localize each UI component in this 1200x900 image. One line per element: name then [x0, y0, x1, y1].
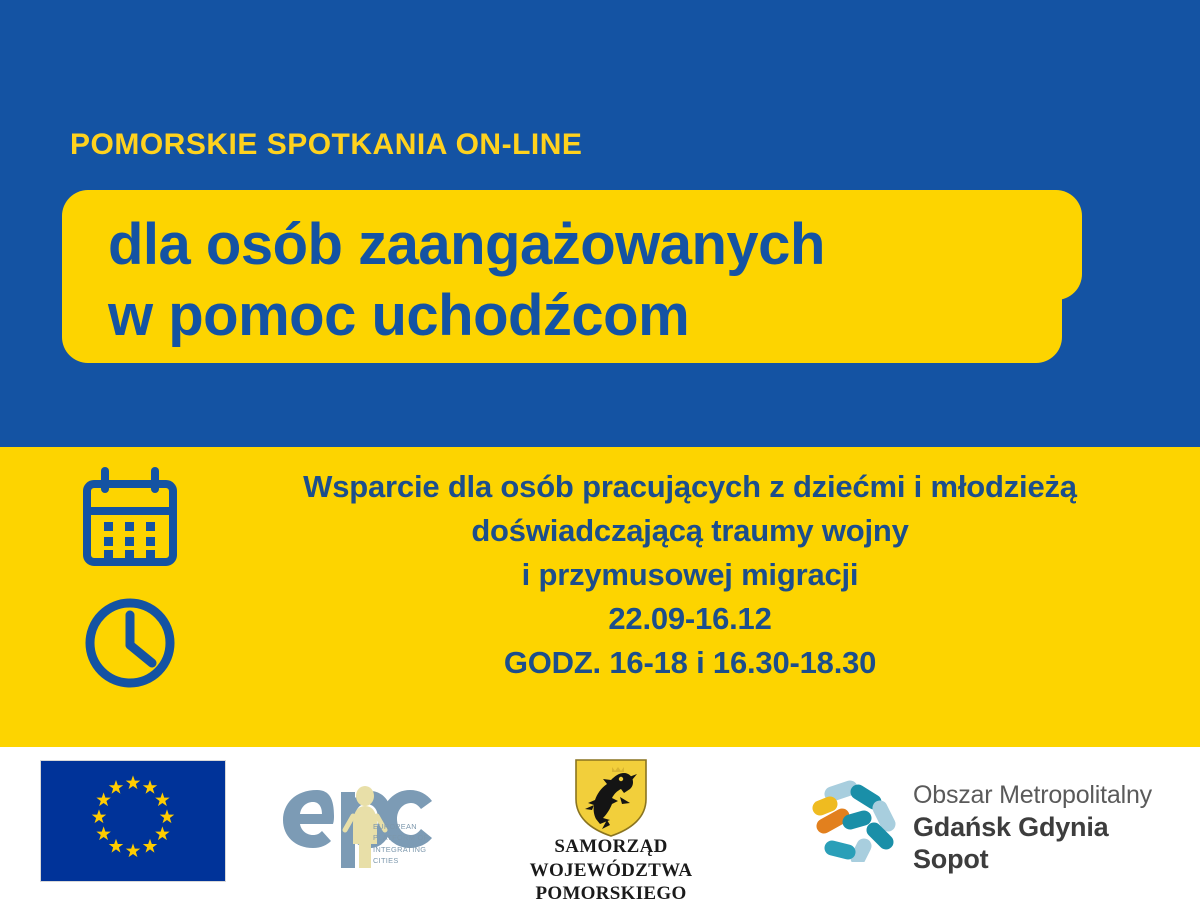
omggs-logo: Obszar Metropolitalny Gdańsk Gdynia Sopo… [808, 778, 1178, 862]
details-icons [78, 467, 198, 693]
headline-line-1: dla osób zaangażowanych [108, 212, 825, 277]
headline-bubble: dla osób zaangażowanych w pomoc uchodźco… [62, 190, 1082, 363]
epic-subtitle-line-2: PLATFORM OF [373, 832, 443, 843]
details-line-2: doświadczającą traumy wojny [210, 509, 1170, 553]
details-line-1: Wsparcie dla osób pracujących z dziećmi … [210, 465, 1170, 509]
pomorskie-caption: SAMORZĄD WOJEWÓDZTWA POMORSKIEGO [465, 835, 757, 900]
details-text: Wsparcie dla osób pracujących z dziećmi … [210, 465, 1170, 685]
pomorskie-logo: SAMORZĄD WOJEWÓDZTWA POMORSKIEGO [465, 757, 757, 882]
coat-of-arms-icon [572, 757, 650, 839]
epic-subtitle-line-3: INTEGRATING [373, 844, 443, 855]
kicker-text: POMORSKIE SPOTKANIA ON-LINE [70, 128, 582, 162]
details-date-range: 22.09-16.12 [210, 597, 1170, 641]
headline-text: dla osób zaangażowanych w pomoc uchodźco… [108, 210, 1048, 352]
details-section: Wsparcie dla osób pracujących z dziećmi … [0, 447, 1200, 747]
omggs-mark-icon [808, 778, 900, 862]
details-hours: GODZ. 16-18 i 16.30-18.30 [210, 641, 1170, 685]
headline-line-2: w pomoc uchodźcom [108, 281, 1048, 352]
omggs-line-1: Obszar Metropolitalny [913, 780, 1183, 811]
epic-logo: EUROPEAN PLATFORM OF INTEGRATING CITIES [275, 768, 440, 878]
omggs-text: Obszar Metropolitalny Gdańsk Gdynia Sopo… [913, 780, 1183, 876]
pomorskie-caption-line-1: SAMORZĄD [465, 835, 757, 859]
epic-subtitle: EUROPEAN PLATFORM OF INTEGRATING CITIES [373, 821, 443, 867]
eu-flag-icon [40, 760, 226, 882]
epic-subtitle-line-4: CITIES [373, 855, 443, 866]
clock-icon [78, 593, 182, 693]
details-line-3: i przymusowej migracji [210, 553, 1170, 597]
omggs-line-2: Gdańsk Gdynia Sopot [913, 811, 1183, 877]
hero-section: POMORSKIE SPOTKANIA ON-LINE dla osób zaa… [0, 0, 1200, 447]
pomorskie-caption-line-2: WOJEWÓDZTWA POMORSKIEGO [465, 859, 757, 900]
epic-subtitle-line-1: EUROPEAN [373, 821, 443, 832]
poster: POMORSKIE SPOTKANIA ON-LINE dla osób zaa… [0, 0, 1200, 900]
calendar-icon [78, 467, 182, 571]
eu-stars [41, 761, 225, 881]
